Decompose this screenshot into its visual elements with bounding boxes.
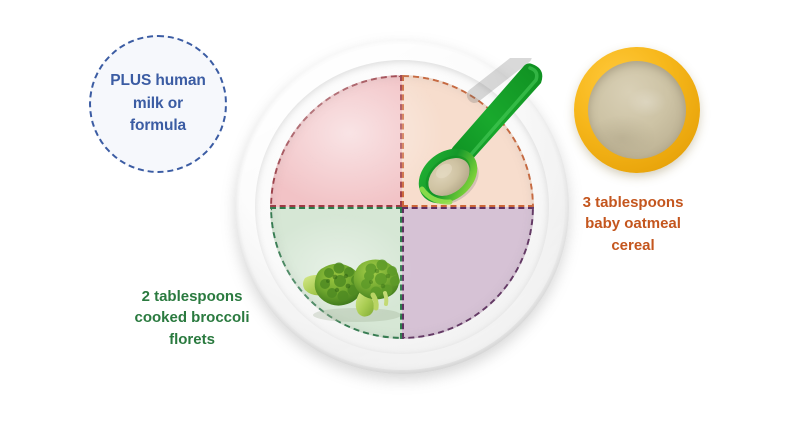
broccoli-label-line-3: florets [104, 329, 280, 350]
bowl-cereal [588, 61, 686, 159]
broccoli-label-line-1: 2 tablespoons [104, 286, 280, 307]
broccoli-label-line-2: cooked broccoli [104, 307, 280, 328]
callout-text: PLUS human milk or formula [110, 70, 205, 137]
divided-plate [229, 33, 574, 383]
plus-human-milk-callout: PLUS human milk or formula [89, 35, 227, 173]
baby-spoon [404, 58, 564, 208]
cereal-label-line-2: baby oatmeal [553, 213, 713, 234]
cereal-label-line-3: cereal [553, 235, 713, 256]
bowl-cereal-texture [588, 61, 686, 159]
callout-line-1: PLUS human [110, 70, 205, 92]
broccoli-label: 2 tablespoons cooked broccoli florets [104, 286, 280, 350]
cereal-label-line-1: 3 tablespoons [553, 192, 713, 213]
callout-line-3: formula [110, 115, 205, 137]
infographic-canvas: PLUS human milk or formula [0, 0, 800, 431]
cereal-bowl [574, 47, 700, 173]
cereal-label: 3 tablespoons baby oatmeal cereal [553, 192, 713, 256]
callout-line-2: milk or [110, 93, 205, 115]
broccoli-florets [301, 251, 411, 323]
